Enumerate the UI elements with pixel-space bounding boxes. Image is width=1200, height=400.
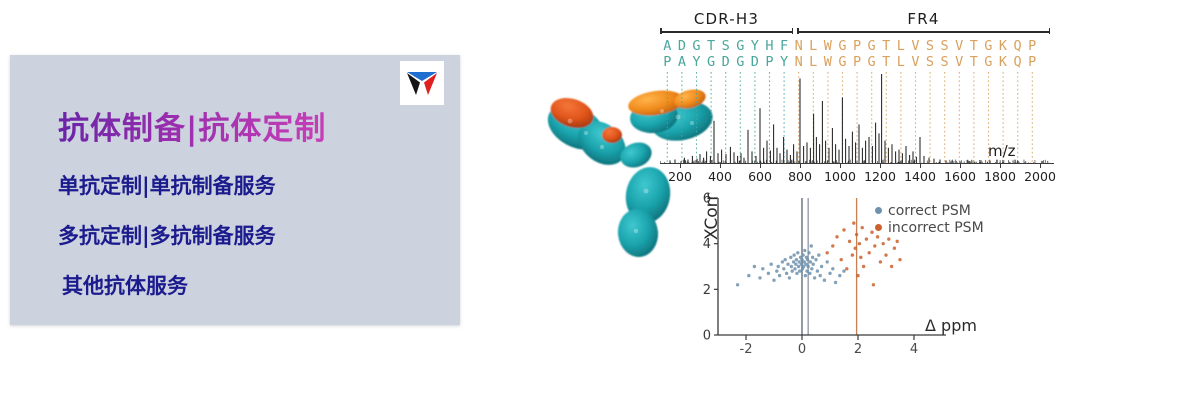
legend-label-incorrect: incorrect PSM <box>888 220 984 236</box>
sequence-row-bottom: PAYGDGDPYNLWGPGTLVSSVTGKQP <box>660 54 1039 70</box>
residue: G <box>733 38 748 54</box>
region-label-cdr-h3: CDR-H3 <box>660 10 793 28</box>
spectrum-tick-label: 1800 <box>984 169 1016 184</box>
scatter-x-tick-label: 2 <box>854 342 862 357</box>
spectrum-x-ticks: 200400600800100012001400160018002000 <box>660 164 1054 184</box>
spectrum-tick <box>760 164 761 168</box>
scatter-x-axis-label: Δ ppm <box>925 316 977 335</box>
residue: V <box>908 38 923 54</box>
spectrum-tick <box>800 164 801 168</box>
spectrum-tick-label: 400 <box>708 169 732 184</box>
spectrum-tick-label: 1600 <box>944 169 976 184</box>
residue: G <box>704 54 719 70</box>
promo-link-other-services[interactable]: 其他抗体服务 <box>62 270 188 300</box>
residue: F <box>777 38 792 54</box>
spectrum-tick-label: 1400 <box>904 169 936 184</box>
residue: G <box>864 54 879 70</box>
residue: T <box>879 38 894 54</box>
legend-item-correct-psm[interactable]: correct PSM <box>875 202 984 219</box>
residue: G <box>835 54 850 70</box>
residue: A <box>660 38 675 54</box>
region-label-fr4: FR4 <box>797 10 1050 28</box>
region-bracket-fr4: FR4 <box>797 20 1050 34</box>
spectrum-tick <box>880 164 881 168</box>
spectrum-tick <box>920 164 921 168</box>
residue: Y <box>777 54 792 70</box>
sequence-alignment: ADGTSGYHFNLWGPGTLVSSVTGKQP PAYGDGDPYNLWG… <box>660 38 1039 70</box>
residue: T <box>879 54 894 70</box>
residue: Q <box>1010 38 1025 54</box>
residue: S <box>718 38 733 54</box>
residue: P <box>762 54 777 70</box>
spectrum-tick <box>840 164 841 168</box>
spectrum-tick-label: 2000 <box>1024 169 1056 184</box>
residue: W <box>821 54 836 70</box>
residue: D <box>675 38 690 54</box>
residue: Y <box>689 54 704 70</box>
legend-dot-incorrect <box>875 224 882 231</box>
residue: S <box>923 38 938 54</box>
residue: T <box>966 38 981 54</box>
residue: K <box>996 38 1011 54</box>
spectrum-tick-label: 200 <box>668 169 692 184</box>
residue: V <box>952 54 967 70</box>
sequence-row-top: ADGTSGYHFNLWGPGTLVSSVTGKQP <box>660 38 1039 54</box>
residue: T <box>704 38 719 54</box>
spectrum-tick <box>720 164 721 168</box>
page-root: 抗体制备|抗体定制 单抗定制|单抗制备服务 多抗定制|多抗制备服务 其他抗体服务 <box>0 0 1200 400</box>
residue: L <box>894 38 909 54</box>
residue: S <box>923 54 938 70</box>
residue: S <box>937 38 952 54</box>
spectrum-tick <box>680 164 681 168</box>
scatter-y-axis-label: XCorr <box>702 194 722 240</box>
residue: G <box>689 38 704 54</box>
residue: L <box>806 38 821 54</box>
residue: S <box>937 54 952 70</box>
residue: T <box>966 54 981 70</box>
residue: K <box>996 54 1011 70</box>
residue: D <box>718 54 733 70</box>
spectrum-tick-label: 600 <box>748 169 772 184</box>
residue: D <box>748 54 763 70</box>
residue: V <box>952 38 967 54</box>
tricolor-chevron-logo-icon <box>405 68 439 98</box>
legend-item-incorrect-psm[interactable]: incorrect PSM <box>875 219 984 236</box>
residue: P <box>850 54 865 70</box>
spectrum-tick-label: 1000 <box>824 169 856 184</box>
legend-label-correct: correct PSM <box>888 203 971 219</box>
page-title: 抗体制备|抗体定制 <box>58 103 326 148</box>
spectrum-tick-label: 800 <box>788 169 812 184</box>
residue: G <box>981 54 996 70</box>
spectrum-tick <box>1000 164 1001 168</box>
spectrum-tick <box>1040 164 1041 168</box>
region-bracket-cdr-h3: CDR-H3 <box>660 20 793 34</box>
residue: G <box>733 54 748 70</box>
residue: V <box>908 54 923 70</box>
scatter-y-tick-label: 2 <box>703 283 711 298</box>
science-figure: CDR-H3 FR4 ADGTSGYHFNLWGPGTLVSSVTGKQP PA… <box>520 0 1200 400</box>
promo-link-polyclonal[interactable]: 多抗定制|多抗制备服务 <box>58 220 276 250</box>
scatter-x-tick-label: 4 <box>910 342 918 357</box>
residue: P <box>660 54 675 70</box>
company-logo <box>400 61 444 105</box>
residue: Q <box>1010 54 1025 70</box>
residue: W <box>821 38 836 54</box>
residue: P <box>850 38 865 54</box>
residue: G <box>835 38 850 54</box>
scatter-y-tick-label: 0 <box>703 329 711 344</box>
residue: P <box>1025 38 1040 54</box>
residue: P <box>1025 54 1040 70</box>
residue: A <box>675 54 690 70</box>
residue: G <box>864 38 879 54</box>
residue: N <box>791 54 806 70</box>
spectrum-tick <box>960 164 961 168</box>
scatter-legend: correct PSM incorrect PSM <box>875 202 984 236</box>
residue: Y <box>748 38 763 54</box>
spectrum-x-axis-label: m/z <box>988 142 1016 160</box>
residue: N <box>791 38 806 54</box>
promo-panel: 抗体制备|抗体定制 单抗定制|单抗制备服务 多抗定制|多抗制备服务 其他抗体服务 <box>10 55 460 325</box>
residue: L <box>806 54 821 70</box>
promo-link-monoclonal[interactable]: 单抗定制|单抗制备服务 <box>58 170 276 200</box>
scatter-x-tick-label: -2 <box>740 342 753 357</box>
spectrum-tick-label: 1200 <box>864 169 896 184</box>
legend-dot-correct <box>875 207 882 214</box>
residue: H <box>762 38 777 54</box>
residue: G <box>981 38 996 54</box>
scatter-x-tick-label: 0 <box>798 342 806 357</box>
residue: L <box>894 54 909 70</box>
